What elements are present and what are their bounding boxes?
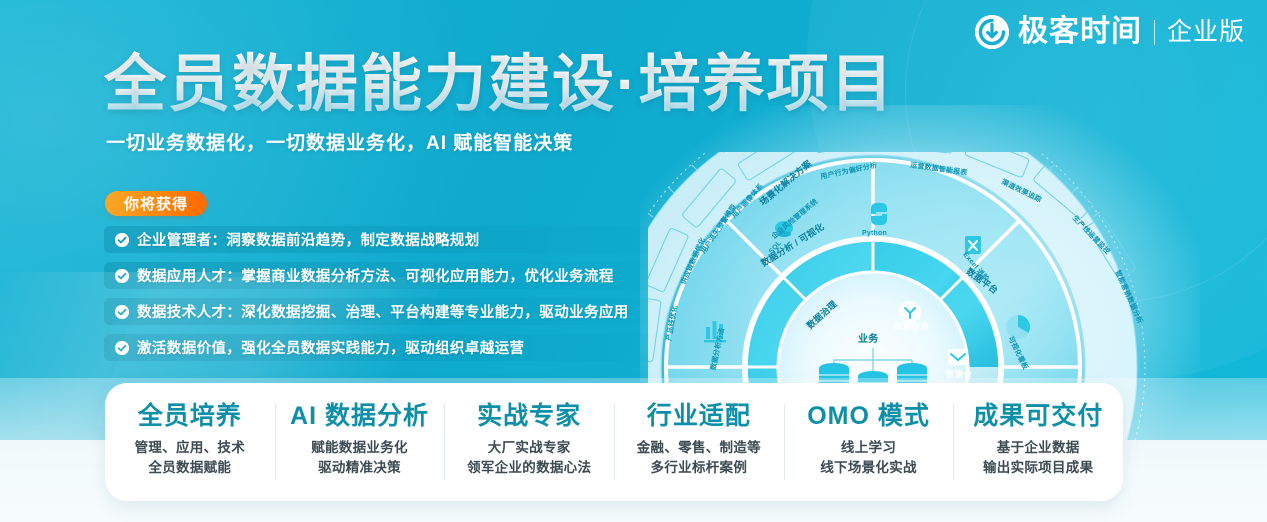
list-item: 企业管理者：洞察数据前沿趋势，制定数据战略规划 xyxy=(104,226,724,253)
feature-item-3[interactable]: 行业适配 金融、零售、制造等 多行业标杆案例 xyxy=(614,400,784,484)
logo-divider xyxy=(1154,20,1155,45)
feature-line-2: 线下场景化实战 xyxy=(820,458,917,478)
feature-title: OMO 模式 xyxy=(807,400,930,432)
check-icon xyxy=(115,233,129,247)
brand-logo[interactable]: 极客时间 企业版 xyxy=(975,10,1245,54)
feature-line-2: 输出实际项目成果 xyxy=(983,458,1093,478)
feature-item-5[interactable]: 成果可交付 基于企业数据 输出实际项目成果 xyxy=(953,400,1123,484)
feature-line-1: 线上学习 xyxy=(841,438,896,458)
feature-line-1: 金融、零售、制造等 xyxy=(637,438,761,458)
feature-title: 实战专家 xyxy=(477,400,581,432)
benefits-badge: 你将获得 xyxy=(105,191,207,216)
feature-line-2: 全员数据赋能 xyxy=(148,458,231,478)
feature-line-1: 基于企业数据 xyxy=(997,438,1080,458)
geek-time-circle-logo-icon xyxy=(975,15,1009,49)
warehouse-icon xyxy=(948,349,968,365)
list-item-label: 企业管理者：洞察数据前沿趋势，制定数据战略规划 xyxy=(137,229,480,250)
wheel-item-python: Python xyxy=(862,230,887,237)
wheel-item-data-standard: 数据标准 xyxy=(894,320,929,332)
wheel-center-label: 业务 xyxy=(858,330,878,345)
feature-item-1[interactable]: AI 数据分析 赋能数据业务化 驱动精准决策 xyxy=(275,400,445,484)
page-subtitle: 一切业务数据化，一切数据业务化，AI 赋能智能决策 xyxy=(106,128,573,155)
feature-line-1: 赋能数据业务化 xyxy=(311,438,408,458)
feature-item-2[interactable]: 实战专家 大厂实战专家 领军企业的数据心法 xyxy=(444,400,614,484)
feature-title: 全员培养 xyxy=(138,400,242,432)
feature-line-1: 大厂实战专家 xyxy=(488,438,571,458)
logo-edition-label: 企业版 xyxy=(1167,15,1245,49)
promo-banner: 极客时间 企业版 全员数据能力建设·培养项目 一切业务数据化，一切数据业务化，A… xyxy=(0,0,1267,522)
page-title: 全员数据能力建设·培养项目 xyxy=(104,50,895,119)
feature-line-1: 管理、应用、技术 xyxy=(135,438,245,458)
pie-chart-icon xyxy=(1006,315,1030,339)
feature-item-4[interactable]: OMO 模式 线上学习 线下场景化实战 xyxy=(784,400,954,484)
feature-title: 行业适配 xyxy=(647,400,751,432)
feature-line-2: 驱动精准决策 xyxy=(318,458,401,478)
feature-line-2: 领军企业的数据心法 xyxy=(467,458,591,478)
features-card: 全员培养 管理、应用、技术 全员数据赋能 AI 数据分析 赋能数据业务化 驱动精… xyxy=(105,383,1123,501)
logo-brand-name: 极客时间 xyxy=(1018,15,1142,49)
feature-title: AI 数据分析 xyxy=(290,400,429,432)
feature-title: 成果可交付 xyxy=(973,400,1103,432)
feature-line-2: 多行业标杆案例 xyxy=(651,458,748,478)
feature-item-0[interactable]: 全员培养 管理、应用、技术 全员数据赋能 xyxy=(105,400,275,484)
